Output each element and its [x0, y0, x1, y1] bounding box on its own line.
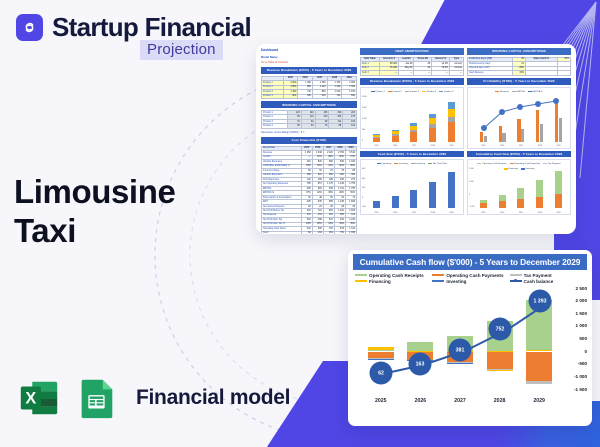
dashboard-title: Dashboard [261, 48, 357, 53]
table-row: Product 455647588102 [262, 124, 357, 128]
legend-item: Revenue [495, 91, 509, 93]
brand-logo-icon [16, 14, 43, 41]
svg-text:X: X [25, 390, 36, 408]
revenue-chart-x-axis: 20252026202720282029 [367, 145, 461, 147]
brand-subtitle-wrap: Projection [140, 40, 223, 60]
panel-header-debt-amortization: DEBT AMORTIZATION [360, 48, 464, 55]
legend-item-tax-payment: Tax Payment [510, 273, 587, 278]
legend-line-icon [510, 280, 522, 281]
panel-header-working-capital: WORKING CAPITAL ASSUMPTIONS [467, 48, 571, 55]
core-financials-table: Fiscal Year20252026202720282029 Revenue1… [261, 146, 357, 234]
dashboard-preview-card[interactable]: Dashboard Model Name Go to Table of Cont… [256, 44, 576, 234]
cumulative-mini-x-axis: 20252026202720282029 [474, 212, 568, 214]
brand-header: Startup Financial [16, 12, 251, 43]
panel-header-revenue-breakdown: Revenue Breakdown ($'000) - 5 Years to D… [261, 67, 357, 74]
x-tick-label: 2025 [368, 398, 394, 404]
legend-item: EBITDA [512, 91, 525, 93]
cashflow-mini-chart: Operating Investing Financing Net Cash F… [360, 159, 464, 215]
table-row: Cash Reserve15% [468, 71, 571, 75]
dashboard-total-revenue-label: Revenues, Gross Margin ($'000) - 5 Y [261, 131, 357, 135]
profitability-chart: Revenue EBITDA EBITDA % [467, 87, 571, 149]
cashflow-mini-bars [367, 168, 461, 208]
x-tick-label: 2027 [447, 398, 473, 404]
dashboard-column-middle: DEBT AMORTIZATION Debt TableAmounts $Loa… [360, 48, 464, 230]
page-title-line-1: Limousine [14, 173, 175, 212]
table-row: Product 4900520610720840 [262, 94, 357, 98]
file-format-label: Financial model [136, 386, 290, 410]
legend-item-operating-cash-receipts: Operating Cash Receipts [355, 273, 432, 278]
legend-item: Operating Cash Payments [510, 163, 540, 165]
legend-item-investing: Investing [432, 279, 509, 284]
data-label-2029: 1 393 [528, 290, 551, 313]
table-row: Cash621633817521 393 [262, 231, 357, 234]
panel-header-cumulative-cashflow: Cumulative Cash flow ($'000) - 5 Years t… [467, 151, 571, 158]
panel-header-operating: WORKING CAPITAL ASSUMPTIONS [261, 101, 357, 108]
brand-title: Startup Financial [52, 12, 251, 43]
cash-balance-nodes: 62 163 381 752 1 393 [361, 286, 559, 392]
legend-item: Operating Cash Receipts [477, 163, 506, 165]
data-label-2028: 752 [488, 318, 511, 341]
cashflow-mini-x-axis: 20252026202720282029 [367, 212, 461, 214]
chart-x-axis: 2025 2026 2027 2028 2029 [361, 398, 559, 404]
working-capital-table: Collection days (A/R)30Sales Stock %40% … [467, 57, 571, 76]
data-label-2025: 62 [369, 362, 392, 385]
legend-item: Operating [377, 163, 391, 165]
legend-label: Tax Payment [524, 273, 552, 278]
profitability-x-axis: 20252026202720282029 [474, 145, 568, 147]
google-sheets-icon [73, 375, 119, 421]
chart-legend: Operating Cash Receipts Operating Cash P… [355, 273, 587, 284]
cashflow-mini-y-axis: 6004002000-200 [362, 168, 366, 208]
page-title-line-2: Taxi [14, 212, 175, 251]
dashboard-column-right: WORKING CAPITAL ASSUMPTIONS Collection d… [467, 48, 571, 230]
legend-label: Operating Cash Payments [446, 273, 503, 278]
x-tick-label: 2029 [526, 398, 552, 404]
revenue-breakdown-chart: Product 1 Product 2 Product 3 Product 4 … [360, 87, 464, 149]
legend-item: Product 4 [422, 91, 436, 93]
revenue-input-table: 20252026202720282029 Product 12 5001 200… [261, 76, 357, 99]
page-title: Limousine Taxi [14, 173, 175, 251]
data-label-2027: 381 [449, 339, 472, 362]
debt-amortization-table: Debt TableAmounts $Loan/IntTerms MoInter… [360, 57, 464, 76]
x-tick-label: 2028 [487, 398, 513, 404]
legend-item: EBITDA % [528, 91, 543, 93]
data-label-2026: 163 [409, 353, 432, 376]
cumulative-cashflow-mini-chart: Operating Cash Receipts Operating Cash P… [467, 159, 571, 215]
x-tick-label: 2026 [407, 398, 433, 404]
legend-label: Operating Cash Receipts [369, 273, 424, 278]
legend-swatch-icon [510, 274, 522, 277]
panel-header-cashflow-mini: Cash flow ($'000) - 5 Years to December … [360, 151, 464, 158]
panel-header-profitability: Profitability ($'000) - 5 Years to Decem… [467, 78, 571, 85]
legend-item: Product 2 [388, 91, 402, 93]
table-row: Debt 3————— [361, 71, 464, 75]
legend-label: Investing [446, 279, 466, 284]
revenue-chart-legend: Product 1 Product 2 Product 3 Product 4 … [363, 90, 461, 93]
chart-plot-area: 2 500 2 000 1 500 1 000 500 0 -500 -1 00… [353, 286, 587, 404]
legend-swatch-icon [432, 274, 444, 277]
legend-item: Financing [411, 163, 425, 165]
brand-subtitle: Projection [140, 40, 223, 60]
dashboard-column-left: Dashboard Model Name Go to Table of Cont… [261, 48, 357, 230]
dashboard-toc-link[interactable]: Go to Table of Contents [261, 61, 357, 65]
cumulative-mini-bars [474, 168, 568, 208]
legend-item: Product 1 [371, 91, 385, 93]
legend-item-cash-balance: Cash balance [510, 279, 587, 284]
legend-item-operating-cash-payments: Operating Cash Payments [432, 273, 509, 278]
legend-item: Investing [394, 163, 408, 165]
panel-header-core-financials: Core Financials ($'000) [261, 137, 357, 144]
legend-swatch-icon [432, 280, 444, 283]
dashboard-model-name: Model Name [261, 55, 357, 59]
profitability-legend: Revenue EBITDA EBITDA % [470, 90, 568, 93]
dashboard-grid: Dashboard Model Name Go to Table of Cont… [261, 48, 571, 230]
legend-item: Net Cash Flow [428, 163, 447, 165]
cumulative-cashflow-card[interactable]: Cumulative Cash flow ($'000) - 5 Years t… [348, 250, 592, 426]
microsoft-excel-icon: X [16, 375, 62, 421]
legend-item: Product 5 [439, 91, 453, 93]
operating-expense-table: Product 1120140165190220 Product 2951101… [261, 110, 357, 129]
profitability-trend-line [474, 96, 566, 142]
legend-swatch-icon [355, 274, 367, 277]
revenue-chart-bars [367, 96, 461, 142]
legend-item: Tax Payment [543, 163, 560, 165]
legend-item-financing: Financing [355, 279, 432, 284]
legend-label: Cash balance [524, 279, 554, 284]
cashflow-mini-legend: Operating Investing Financing Net Cash F… [363, 162, 461, 165]
panel-header-revenue-chart: Revenue Breakdown ($'000) - 5 Years to D… [360, 78, 464, 85]
poster-canvas: Startup Financial Projection Limousine T… [0, 0, 600, 447]
chart-title: Cumulative Cash flow ($'000) - 5 Years t… [353, 254, 587, 270]
legend-swatch-icon [355, 280, 367, 283]
file-format-row: X Financial model [16, 375, 290, 421]
legend-item: Product 3 [405, 91, 419, 93]
legend-label: Financing [369, 279, 391, 284]
